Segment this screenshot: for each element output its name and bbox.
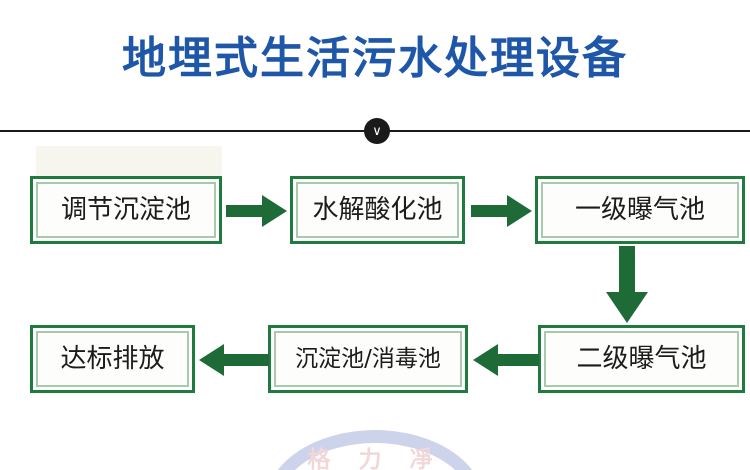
flow-node-label: 调节沉淀池 (61, 197, 191, 223)
arrow-left-1 (472, 343, 540, 377)
chevron-down-glyph: ∨ (372, 125, 382, 138)
flow-node-inner: 一级曝气池 (541, 182, 739, 238)
arrow-right-2 (471, 194, 533, 228)
flow-node-erji-puqichi[interactable]: 二级曝气池 (538, 325, 745, 393)
watermark-text: 格 力 凈 (255, 440, 495, 470)
flow-node-inner: 二级曝气池 (544, 331, 739, 387)
watermark: 格 力 凈 (255, 424, 495, 470)
flow-node-shuijie-suanhuachi[interactable]: 水解酸化池 (290, 176, 465, 244)
flow-node-inner: 调节沉淀池 (36, 182, 216, 238)
title-bar: 地埋式生活污水处理设备 (0, 0, 750, 118)
flow-node-label: 水解酸化池 (312, 197, 442, 223)
arrow-right-1 (226, 194, 288, 228)
flow-node-inner: 达标排放 (36, 331, 189, 387)
process-flow-diagram: 调节沉淀池 水解酸化池 一级曝气池 二级曝气池 (0, 140, 750, 440)
flow-node-yiji-puqichi[interactable]: 一级曝气池 (535, 176, 745, 244)
arrow-down-1 (605, 246, 649, 324)
flow-node-inner: 水解酸化池 (296, 182, 459, 238)
flow-node-chendianchi-xiaoduchi[interactable]: 沉淀池/消毒池 (268, 325, 468, 393)
arrow-left-2 (198, 343, 270, 377)
flow-node-dabiao-paifang[interactable]: 达标排放 (30, 325, 195, 393)
page-title: 地埋式生活污水处理设备 (122, 37, 628, 81)
flow-node-label: 达标排放 (60, 346, 164, 372)
flow-node-tiaojie-chendianchi[interactable]: 调节沉淀池 (30, 176, 222, 244)
flow-node-inner: 沉淀池/消毒池 (274, 331, 462, 387)
flow-node-label: 沉淀池/消毒池 (295, 348, 441, 371)
flow-node-label: 二级曝气池 (576, 346, 706, 372)
flow-node-label: 一级曝气池 (575, 197, 705, 223)
